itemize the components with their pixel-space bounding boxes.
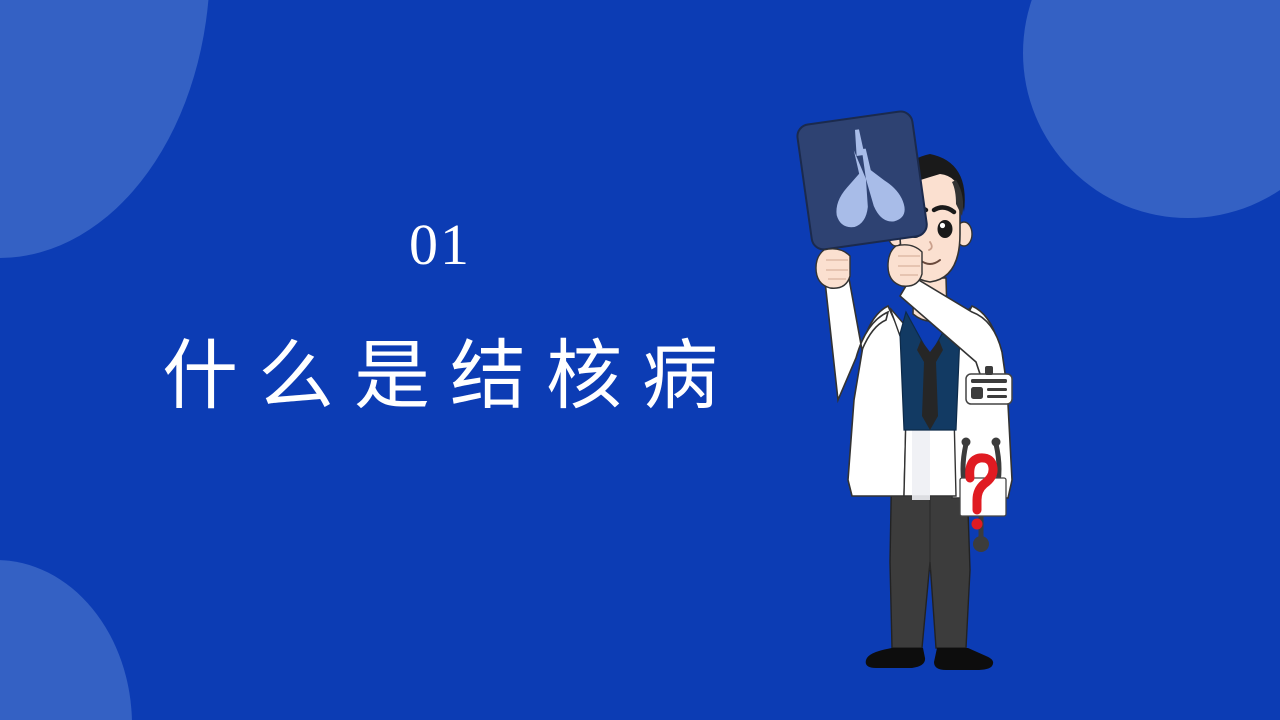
section-number: 01 xyxy=(0,216,880,274)
presentation-slide: 01 什么是结核病 xyxy=(0,0,1280,720)
shoes-group xyxy=(866,648,993,670)
chest-xray-film xyxy=(796,110,928,251)
doctor-illustration xyxy=(780,100,1080,680)
section-heading-block: 01 什么是结核病 xyxy=(0,216,880,418)
page-title: 什么是结核病 xyxy=(0,338,880,418)
hands-group xyxy=(816,245,922,288)
decorative-circle-bottom-left xyxy=(0,560,132,720)
